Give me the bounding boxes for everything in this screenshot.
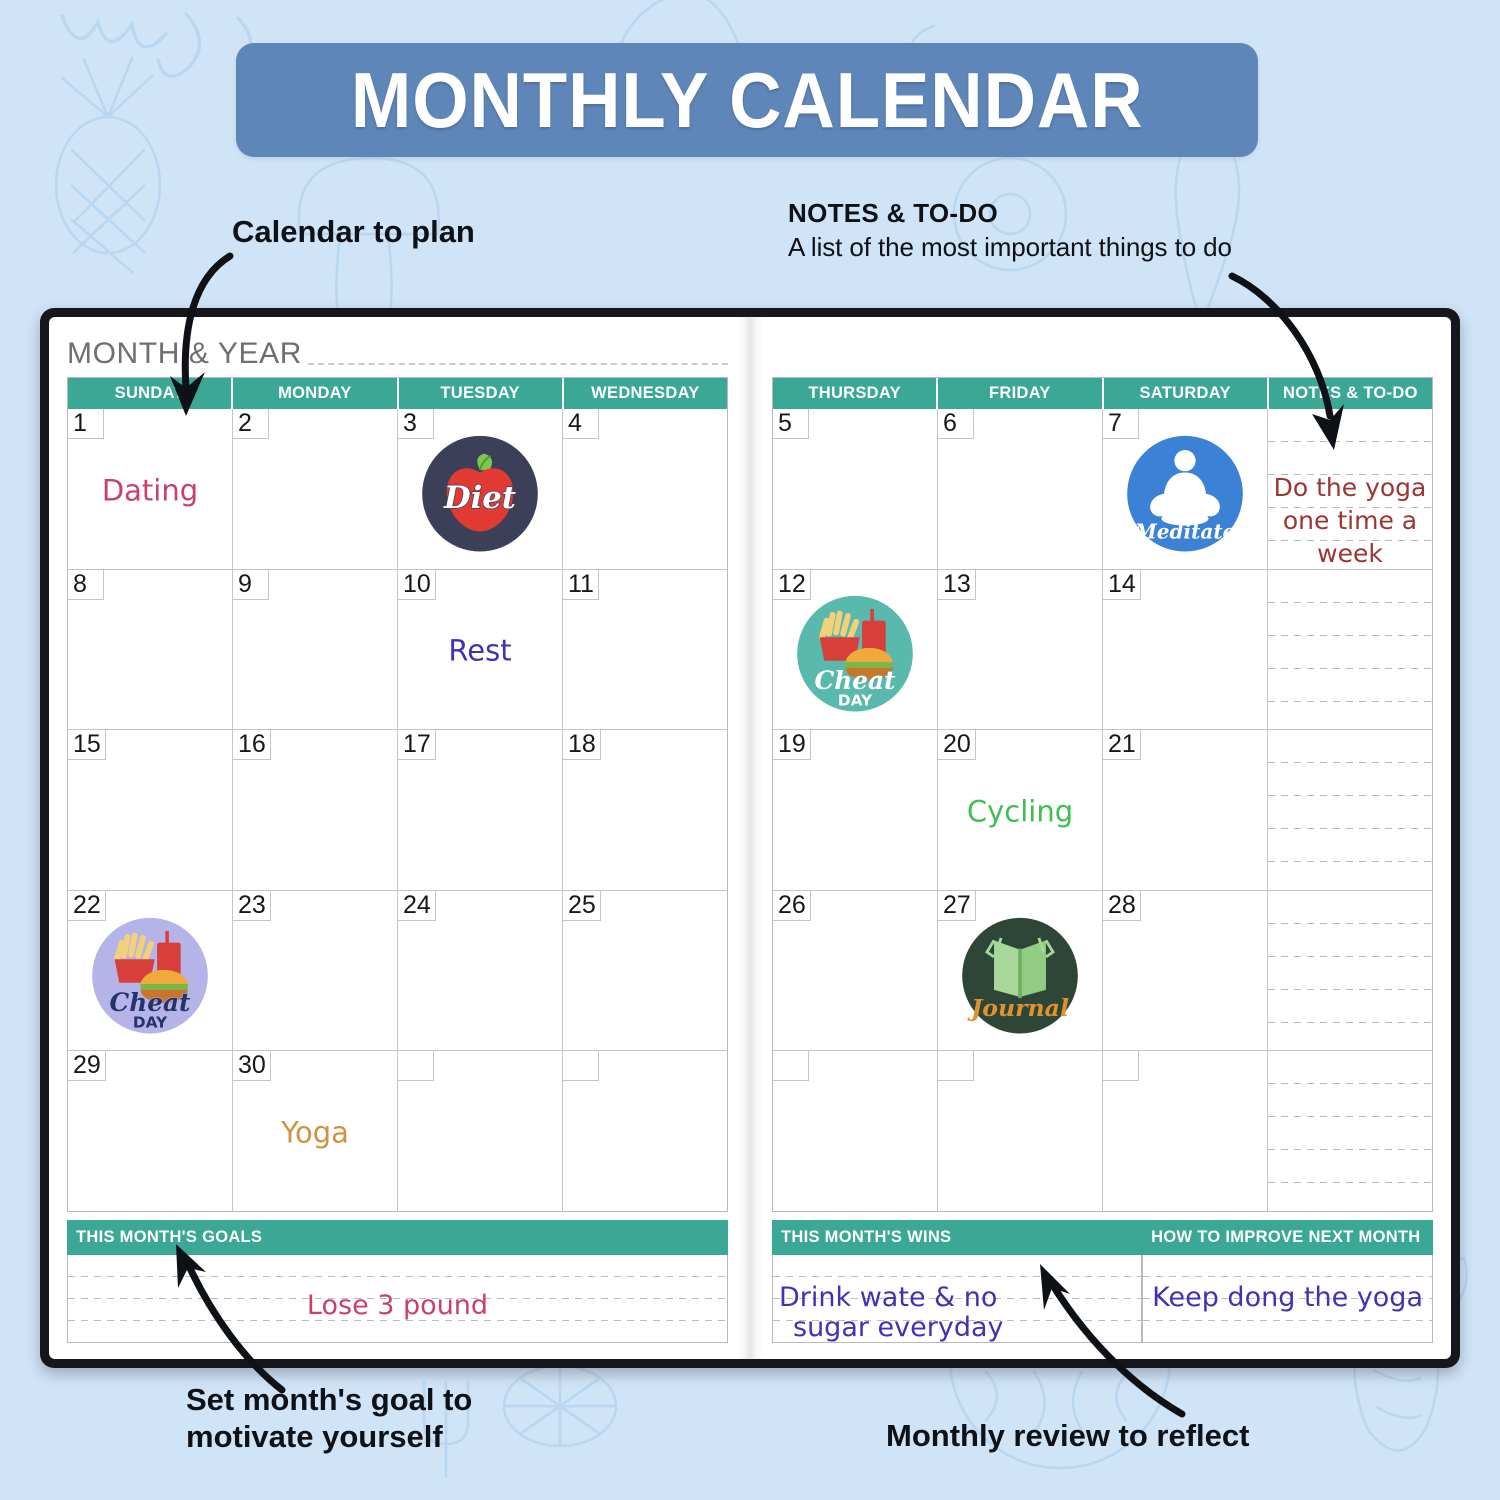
right-day-headers: THURSDAYFRIDAYSATURDAYNOTES & TO-DO — [773, 378, 1432, 409]
day-cell-19[interactable]: 19 — [773, 730, 938, 890]
svg-text:DAY: DAY — [133, 1013, 168, 1031]
cheat-day-teal-sticker: Cheat DAY — [796, 595, 914, 713]
journal-sticker: Journal — [961, 916, 1079, 1034]
day-header-thursday: THURSDAY — [773, 378, 938, 409]
callout-review-label: Monthly review to reflect — [886, 1418, 1249, 1453]
day-cell-8[interactable]: 8 — [68, 570, 233, 730]
day-number: 1 — [68, 409, 104, 439]
calendar-week-row — [773, 1050, 1432, 1211]
day-number: 5 — [773, 409, 809, 439]
calendar-week-row: 12 Cheat DAY 1314 — [773, 569, 1432, 730]
day-number: 26 — [773, 891, 811, 921]
meditate-sticker: Meditate — [1126, 435, 1244, 553]
page-title: MONTHLY CALENDAR — [351, 55, 1144, 146]
day-cell-27[interactable]: 27 Journal — [938, 891, 1103, 1051]
day-number — [938, 1051, 974, 1081]
calendar-week-row: 1920Cycling21 — [773, 729, 1432, 890]
day-number: 18 — [563, 730, 601, 760]
wins-handwritten-text: Drink wate & no sugar everyday — [779, 1283, 1135, 1343]
notes-column-segment[interactable] — [1268, 1051, 1432, 1211]
review-section: THIS MONTH'S WINS Drink wate & no sugar … — [772, 1220, 1433, 1343]
day-number: 29 — [68, 1051, 106, 1081]
improve-heading: HOW TO IMPROVE NEXT MONTH — [1142, 1220, 1433, 1255]
day-cell-25[interactable]: 25 — [563, 891, 727, 1051]
day-entry-text: Rest — [398, 634, 562, 668]
day-cell-22[interactable]: 22 Cheat DAY — [68, 891, 233, 1051]
day-number: 8 — [68, 570, 104, 600]
calendar-week-row: 8910Rest11 — [68, 569, 727, 730]
day-header-saturday: SATURDAY — [1104, 378, 1269, 409]
notes-ruled-lines — [1268, 891, 1432, 1051]
notes-ruled-lines — [1268, 730, 1432, 890]
diet-sticker: Diet — [421, 435, 539, 553]
day-cell-13[interactable]: 13 — [938, 570, 1103, 730]
day-cell-empty[interactable] — [773, 1051, 938, 1211]
callout-calendar-to-plan: Calendar to plan — [232, 214, 475, 251]
callout-monthly-review: Monthly review to reflect — [886, 1418, 1249, 1455]
callout-notes-todo: NOTES & TO-DO A list of the most importa… — [788, 198, 1232, 262]
day-number: 6 — [938, 409, 974, 439]
right-page: THURSDAYFRIDAYSATURDAYNOTES & TO-DO 567 … — [750, 317, 1451, 1359]
planner-book: MONTH & YEAR SUNDAYMONDAYTUESDAYWEDNESDA… — [40, 308, 1460, 1368]
day-header-friday: FRIDAY — [938, 378, 1103, 409]
day-cell-11[interactable]: 11 — [563, 570, 727, 730]
day-cell-empty[interactable] — [1103, 1051, 1268, 1211]
day-number — [1103, 1051, 1139, 1081]
day-cell-7[interactable]: 7 Meditate — [1103, 409, 1268, 569]
improve-body[interactable]: Keep dong the yoga — [1142, 1255, 1433, 1343]
callout-goal-line2: motivate yourself — [186, 1419, 443, 1454]
month-year-field[interactable]: MONTH & YEAR — [67, 331, 728, 371]
month-year-write-line[interactable] — [308, 363, 728, 365]
svg-text:Journal: Journal — [967, 993, 1069, 1021]
notes-ruled-lines — [1268, 570, 1432, 730]
day-number: 17 — [398, 730, 436, 760]
svg-text:Diet: Diet — [443, 480, 516, 516]
right-weeks: 567 Meditate Do the yoga one time a week… — [773, 409, 1432, 1211]
calendar-week-row: 2627 Journal 28 — [773, 890, 1432, 1051]
goals-section: THIS MONTH'S GOALS Lose 3 pound — [67, 1220, 728, 1343]
day-cell-16[interactable]: 16 — [233, 730, 398, 890]
day-cell-empty[interactable] — [938, 1051, 1103, 1211]
callout-notes-subtitle: A list of the most important things to d… — [788, 232, 1232, 263]
day-number: 24 — [398, 891, 436, 921]
day-cell-14[interactable]: 14 — [1103, 570, 1268, 730]
day-number — [563, 1051, 599, 1081]
notes-handwritten-text: Do the yoga one time a week — [1272, 471, 1428, 569]
goals-body[interactable]: Lose 3 pound — [67, 1255, 728, 1343]
planner-spread: MONTH & YEAR SUNDAYMONDAYTUESDAYWEDNESDA… — [49, 317, 1451, 1359]
svg-text:Meditate: Meditate — [1134, 519, 1236, 543]
improve-handwritten-text: Keep dong the yoga — [1149, 1283, 1426, 1313]
cheat-day-purple-sticker: Cheat DAY — [91, 916, 209, 1034]
day-cell-29[interactable]: 29 — [68, 1051, 233, 1211]
day-number: 14 — [1103, 570, 1141, 600]
day-cell-20[interactable]: 20Cycling — [938, 730, 1103, 890]
notes-column-segment[interactable]: Do the yoga one time a week — [1268, 409, 1432, 569]
day-header-monday: MONDAY — [233, 378, 398, 409]
wins-body[interactable]: Drink wate & no sugar everyday — [772, 1255, 1142, 1343]
callout-notes-title: NOTES & TO-DO — [788, 198, 1232, 229]
notes-ruled-lines — [1268, 1051, 1432, 1211]
day-cell-10[interactable]: 10Rest — [398, 570, 563, 730]
day-cell-empty[interactable] — [398, 1051, 563, 1211]
day-number: 13 — [938, 570, 976, 600]
month-year-label: MONTH & YEAR — [67, 337, 302, 371]
day-number: 30 — [233, 1051, 271, 1081]
day-cell-30[interactable]: 30Yoga — [233, 1051, 398, 1211]
notes-column-segment[interactable] — [1268, 730, 1432, 890]
wins-heading: THIS MONTH'S WINS — [772, 1220, 1142, 1255]
day-number: 19 — [773, 730, 811, 760]
calendar-week-row: 567 Meditate Do the yoga one time a week — [773, 409, 1432, 569]
day-header-tuesday: TUESDAY — [399, 378, 564, 409]
day-number: 23 — [233, 891, 271, 921]
page-title-banner: MONTHLY CALENDAR — [236, 43, 1258, 157]
callout-goal-line1: Set month's goal to — [186, 1382, 472, 1417]
day-cell-18[interactable]: 18 — [563, 730, 727, 890]
day-cell-9[interactable]: 9 — [233, 570, 398, 730]
calendar-week-row: 1Dating23 Diet 4 — [68, 409, 727, 569]
day-cell-6[interactable]: 6 — [938, 409, 1103, 569]
day-number: 21 — [1103, 730, 1141, 760]
calendar-week-row: 22 Cheat DAY 232425 — [68, 890, 727, 1051]
day-cell-1[interactable]: 1Dating — [68, 409, 233, 569]
day-number: 15 — [68, 730, 106, 760]
day-number: 2 — [233, 409, 269, 439]
day-cell-17[interactable]: 17 — [398, 730, 563, 890]
day-entry-text: Cycling — [938, 795, 1102, 829]
day-number: 20 — [938, 730, 976, 760]
left-calendar-grid: SUNDAYMONDAYTUESDAYWEDNESDAY 1Dating23 D… — [67, 377, 728, 1212]
notes-column-segment[interactable] — [1268, 570, 1432, 730]
day-header-wednesday: WEDNESDAY — [564, 378, 727, 409]
callout-calendar-label: Calendar to plan — [232, 214, 475, 249]
svg-text:DAY: DAY — [838, 692, 873, 710]
day-cell-4[interactable]: 4 — [563, 409, 727, 569]
goals-handwritten-text: Lose 3 pound — [74, 1291, 721, 1321]
day-cell-15[interactable]: 15 — [68, 730, 233, 890]
calendar-week-row: 2930Yoga — [68, 1050, 727, 1211]
day-cell-24[interactable]: 24 — [398, 891, 563, 1051]
left-day-headers: SUNDAYMONDAYTUESDAYWEDNESDAY — [68, 378, 727, 409]
callout-set-goal: Set month's goal to motivate yourself — [186, 1382, 472, 1455]
day-number: 16 — [233, 730, 271, 760]
day-header-notes-to-do: NOTES & TO-DO — [1269, 378, 1432, 409]
day-cell-23[interactable]: 23 — [233, 891, 398, 1051]
day-number: 11 — [563, 570, 599, 600]
wins-line-2: sugar everyday — [793, 1313, 1004, 1343]
day-number: 9 — [233, 570, 269, 600]
day-number — [773, 1051, 809, 1081]
right-calendar-grid: THURSDAYFRIDAYSATURDAYNOTES & TO-DO 567 … — [772, 377, 1433, 1212]
day-number: 25 — [563, 891, 601, 921]
calendar-week-row: 15161718 — [68, 729, 727, 890]
left-weeks: 1Dating23 Diet 48910Rest111516171822 Che… — [68, 409, 727, 1211]
day-cell-5[interactable]: 5 — [773, 409, 938, 569]
notes-column-segment[interactable] — [1268, 891, 1432, 1051]
right-page-top-spacer — [772, 331, 1433, 377]
day-number: 10 — [398, 570, 436, 600]
day-cell-3[interactable]: 3 Diet — [398, 409, 563, 569]
day-entry-text: Dating — [68, 473, 232, 507]
day-number: 28 — [1103, 891, 1141, 921]
left-page: MONTH & YEAR SUNDAYMONDAYTUESDAYWEDNESDA… — [49, 317, 750, 1359]
day-cell-2[interactable]: 2 — [233, 409, 398, 569]
day-cell-26[interactable]: 26 — [773, 891, 938, 1051]
day-number: 4 — [563, 409, 599, 439]
day-cell-empty[interactable] — [563, 1051, 727, 1211]
day-cell-21[interactable]: 21 — [1103, 730, 1268, 890]
day-cell-28[interactable]: 28 — [1103, 891, 1268, 1051]
day-entry-text: Yoga — [233, 1116, 397, 1150]
day-header-sunday: SUNDAY — [68, 378, 233, 409]
goals-heading: THIS MONTH'S GOALS — [67, 1220, 728, 1255]
day-cell-12[interactable]: 12 Cheat DAY — [773, 570, 938, 730]
day-number — [398, 1051, 434, 1081]
wins-line-1: Drink wate & no — [779, 1282, 997, 1313]
